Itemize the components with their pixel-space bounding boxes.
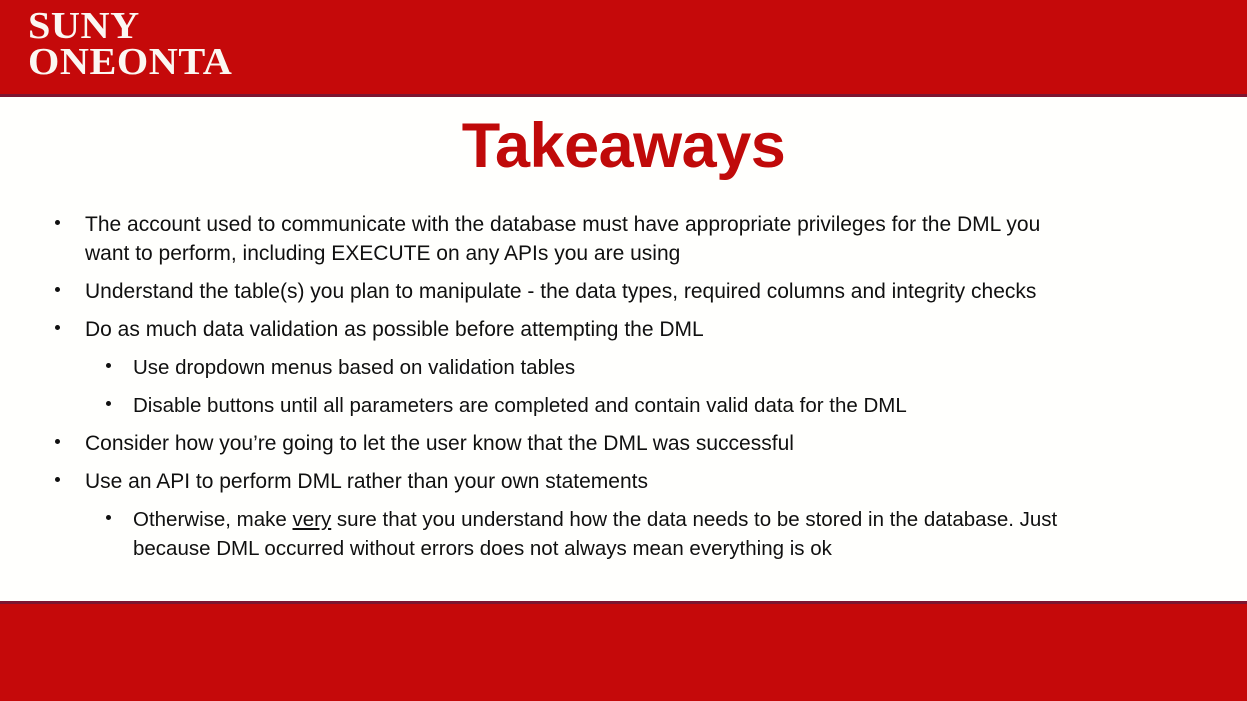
logo-line-suny: SUNY xyxy=(28,8,232,44)
bullet-dot-icon xyxy=(55,287,60,292)
bullet-dot-icon xyxy=(106,401,111,406)
bullet-list: The account used to communicate with the… xyxy=(0,210,1247,572)
bullet-dot-icon xyxy=(55,477,60,482)
emphasis-text: very xyxy=(293,508,332,531)
bullet-text: Understand the table(s) you plan to mani… xyxy=(85,277,1077,306)
header-banner: SUNY ONEONTA xyxy=(0,0,1247,97)
bullet-text: The account used to communicate with the… xyxy=(85,210,1077,268)
bullet-dot-icon xyxy=(55,220,60,225)
bullet-item: The account used to communicate with the… xyxy=(0,210,1247,268)
plain-text: Otherwise, make xyxy=(133,508,293,531)
page-title: Takeaways xyxy=(0,113,1247,180)
bullet-text: Disable buttons until all parameters are… xyxy=(133,391,1067,420)
bullet-item: Understand the table(s) you plan to mani… xyxy=(0,277,1247,306)
bullet-text: Use an API to perform DML rather than yo… xyxy=(85,467,1077,496)
footer-banner xyxy=(0,601,1247,701)
slide: SUNY ONEONTA Takeaways The account used … xyxy=(0,0,1247,701)
bullet-item: Do as much data validation as possible b… xyxy=(0,315,1247,344)
bullet-dot-icon xyxy=(106,363,111,368)
logo-line-oneonta: ONEONTA xyxy=(28,44,232,80)
suny-oneonta-logo: SUNY ONEONTA xyxy=(28,8,221,80)
bullet-dot-icon xyxy=(55,325,60,330)
bullet-text: Use dropdown menus based on validation t… xyxy=(133,353,1067,382)
bullet-item: Use dropdown menus based on validation t… xyxy=(0,353,1247,382)
bullet-dot-icon xyxy=(55,439,60,444)
bullet-dot-icon xyxy=(106,515,111,520)
bullet-text: Consider how you’re going to let the use… xyxy=(85,429,1077,458)
bullet-item: Consider how you’re going to let the use… xyxy=(0,429,1247,458)
bullet-item: Disable buttons until all parameters are… xyxy=(0,391,1247,420)
bullet-item: Use an API to perform DML rather than yo… xyxy=(0,467,1247,496)
bullet-item: Otherwise, make very sure that you under… xyxy=(0,505,1247,563)
bullet-text: Do as much data validation as possible b… xyxy=(85,315,1077,344)
bullet-text: Otherwise, make very sure that you under… xyxy=(133,505,1067,563)
